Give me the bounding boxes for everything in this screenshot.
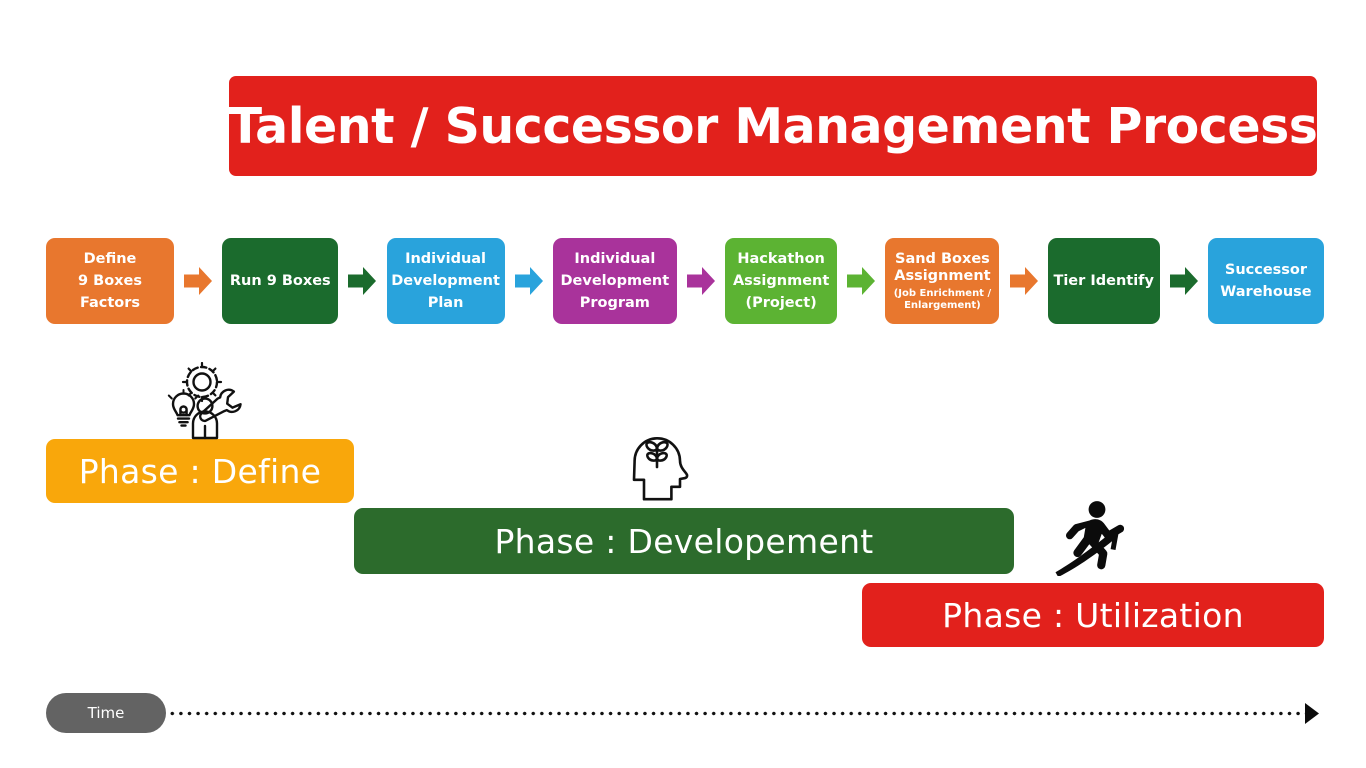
process-step-label: Plan (428, 292, 464, 314)
process-step-label: Assignment (733, 270, 829, 292)
phase-bar-development[interactable]: Phase : Developement (354, 508, 1014, 574)
process-step-label: Warehouse (1220, 281, 1311, 303)
process-step-label: Tier Identify (1053, 270, 1154, 292)
phase-label-utilization: Phase : Utilization (942, 596, 1244, 635)
process-flow-arrow-icon (837, 266, 885, 296)
process-step-label: Individual (405, 248, 486, 270)
process-step-label: Development (561, 270, 670, 292)
running-person-arrow-icon (1053, 500, 1131, 581)
process-flow-arrow-icon (1160, 266, 1208, 296)
process-step-sublabel: (Job Enrichment / Enlargement) (888, 288, 996, 312)
process-step-label: Successor (1225, 259, 1307, 281)
time-axis-arrowhead-icon (1305, 703, 1321, 729)
process-flow-arrow-icon (505, 266, 553, 296)
process-flow-arrow-icon (677, 266, 725, 296)
process-step-label: 9 Boxes (78, 270, 142, 292)
phase-label-define: Phase : Define (79, 452, 322, 491)
process-step-label: Run 9 Boxes (230, 270, 331, 292)
process-step-tier-identify[interactable]: Tier Identify (1048, 238, 1160, 324)
head-with-plant-icon (630, 432, 692, 509)
lightbulb-gear-person-wrench-icon (155, 362, 251, 447)
process-flow-arrow-icon (338, 266, 386, 296)
phase-label-development: Phase : Developement (494, 522, 873, 561)
process-step-successor-warehouse[interactable]: SuccessorWarehouse (1208, 238, 1324, 324)
phase-bar-define[interactable]: Phase : Define (46, 439, 354, 503)
time-axis-label: Time (88, 704, 125, 722)
process-step-individual-development-program[interactable]: IndividualDevelopmentProgram (553, 238, 677, 324)
process-step-label: Development (391, 270, 500, 292)
process-step-define-9-boxes-factors[interactable]: Define9 BoxesFactors (46, 238, 174, 324)
process-step-label: Factors (80, 292, 140, 314)
process-flow-arrow-icon (999, 266, 1047, 296)
process-flow-arrow-icon (174, 266, 222, 296)
page-title-banner: Talent / Successor Management Process (229, 76, 1317, 176)
process-step-run-9-boxes[interactable]: Run 9 Boxes (222, 238, 338, 324)
process-step-label: Individual (574, 248, 655, 270)
process-step-label: Program (580, 292, 650, 314)
process-step-label: Assignment (894, 268, 990, 285)
process-step-label: Define (84, 248, 137, 270)
phase-bar-utilization[interactable]: Phase : Utilization (862, 583, 1324, 647)
process-step-label: Hackathon (737, 248, 824, 270)
process-step-sand-boxes-assignment[interactable]: Sand BoxesAssignment(Job Enrichment / En… (885, 238, 999, 324)
process-step-label: Sand Boxes (895, 251, 990, 268)
process-flow-row: Define9 BoxesFactorsRun 9 BoxesIndividua… (46, 238, 1324, 324)
page-title: Talent / Successor Management Process (229, 98, 1318, 155)
process-step-label: (Project) (745, 292, 816, 314)
process-step-hackathon-assignment-project[interactable]: HackathonAssignment(Project) (725, 238, 837, 324)
time-axis-pill: Time (46, 693, 166, 733)
process-step-individual-development-plan[interactable]: IndividualDevelopmentPlan (387, 238, 505, 324)
time-axis-dotted-line (168, 711, 1306, 716)
